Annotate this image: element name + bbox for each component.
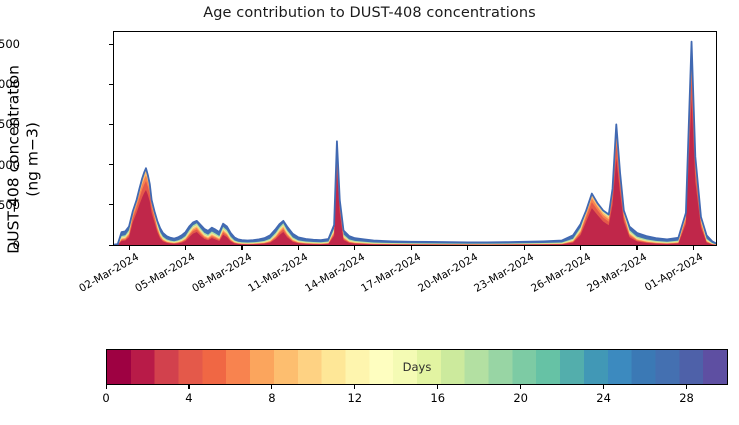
colorbar-tick-mark-7 bbox=[686, 385, 687, 389]
colorbar-tick-label-3: 12 bbox=[347, 391, 362, 405]
x-tick-label-0: 02-Mar-2024 bbox=[77, 251, 141, 295]
colorbar-tick-label-0: 0 bbox=[102, 391, 109, 405]
colorbar-tick-mark-5 bbox=[520, 385, 521, 389]
x-tick-label-7: 23-Mar-2024 bbox=[472, 251, 536, 295]
x-tick-mark-7 bbox=[524, 246, 525, 250]
x-tick-mark-4 bbox=[354, 246, 355, 250]
y-axis-label-line2: (ng m−3) bbox=[24, 39, 43, 279]
y-tick-label-2: 1000 bbox=[0, 158, 20, 172]
colorbar-tick-mark-4 bbox=[437, 385, 438, 389]
y-tick-label-1: 500 bbox=[0, 198, 20, 212]
colorbar-tick-label-4: 16 bbox=[430, 391, 445, 405]
x-tick-label-10: 01-Apr-2024 bbox=[643, 251, 705, 294]
chart-title: Age contribution to DUST-408 concentrati… bbox=[0, 5, 739, 21]
colorbar[interactable]: Days bbox=[106, 349, 728, 385]
x-tick-mark-9 bbox=[636, 246, 637, 250]
colorbar-tick-label-1: 4 bbox=[185, 391, 192, 405]
colorbar-tick-mark-1 bbox=[188, 385, 189, 389]
x-tick-label-8: 26-Mar-2024 bbox=[529, 251, 593, 295]
x-tick-label-3: 11-Mar-2024 bbox=[246, 251, 310, 295]
colorbar-tick-mark-0 bbox=[106, 385, 107, 389]
x-tick-mark-2 bbox=[241, 246, 242, 250]
x-tick-label-5: 17-Mar-2024 bbox=[359, 251, 423, 295]
colorbar-tick-label-2: 8 bbox=[268, 391, 275, 405]
x-tick-mark-10 bbox=[693, 246, 694, 250]
x-tick-label-1: 05-Mar-2024 bbox=[134, 251, 198, 295]
x-tick-label-6: 20-Mar-2024 bbox=[416, 251, 480, 295]
x-tick-mark-1 bbox=[185, 246, 186, 250]
colorbar-tick-mark-6 bbox=[603, 385, 604, 389]
plot-canvas bbox=[114, 32, 716, 245]
y-tick-label-5: 2500 bbox=[0, 37, 20, 51]
colorbar-tick-label-7: 28 bbox=[679, 391, 694, 405]
x-tick-mark-8 bbox=[580, 246, 581, 250]
x-tick-mark-3 bbox=[298, 246, 299, 250]
colorbar-tick-label-6: 24 bbox=[596, 391, 611, 405]
x-tick-label-4: 14-Mar-2024 bbox=[303, 251, 367, 295]
x-tick-mark-0 bbox=[129, 246, 130, 250]
colorbar-tick-label-5: 20 bbox=[513, 391, 528, 405]
colorbar-tick-mark-3 bbox=[354, 385, 355, 389]
y-tick-label-4: 2000 bbox=[0, 77, 20, 91]
total-concentration-line bbox=[114, 42, 716, 245]
x-tick-label-2: 08-Mar-2024 bbox=[190, 251, 254, 295]
colorbar-label: Days bbox=[106, 349, 728, 385]
x-tick-label-9: 29-Mar-2024 bbox=[585, 251, 649, 295]
x-tick-mark-5 bbox=[411, 246, 412, 250]
plot-area bbox=[113, 31, 717, 246]
stacked-area-chart bbox=[114, 32, 716, 245]
colorbar-tick-mark-2 bbox=[271, 385, 272, 389]
y-tick-label-3: 1500 bbox=[0, 117, 20, 131]
y-tick-label-0: 0 bbox=[13, 238, 20, 252]
x-tick-mark-6 bbox=[467, 246, 468, 250]
